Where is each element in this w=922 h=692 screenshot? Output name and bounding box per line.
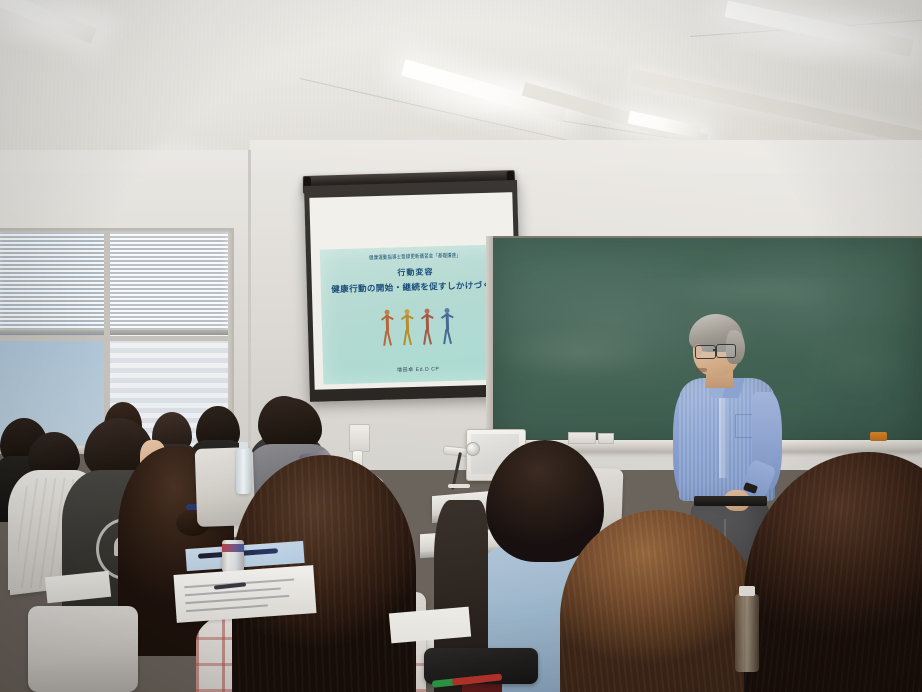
presenter-mouth	[696, 368, 707, 372]
wall-corner	[248, 150, 251, 450]
wall-switch-plate[interactable]	[568, 432, 596, 444]
slide-subtitle: 健康運動指導士登録更新講習会「基礎講座」	[320, 251, 510, 264]
can-label-band	[222, 544, 244, 552]
chalkboard-frame	[486, 236, 493, 452]
classroom-photo-scene: 健康運動指導士登録更新講習会「基礎講座」 行動変容 健康行動の開始・継続を促すし…	[0, 0, 922, 692]
wall-mount-plate	[349, 424, 370, 452]
eyeglasses-lens-left	[695, 345, 716, 359]
presenter-belt	[694, 496, 767, 506]
canned-drink[interactable]	[222, 540, 244, 572]
eyeglasses-lens-right	[716, 344, 736, 358]
handout-papers[interactable]	[173, 565, 316, 623]
chalk-eraser[interactable]	[870, 432, 887, 441]
desk-remote[interactable]	[448, 484, 470, 488]
water-bottle[interactable]	[236, 448, 251, 494]
slide-figure	[401, 309, 413, 349]
eyeglasses-bridge	[713, 349, 717, 351]
slide-figure	[421, 308, 433, 348]
bottle-cap	[739, 586, 755, 596]
chair-back-left-foreground[interactable]	[28, 606, 138, 692]
slide-illustration-figures	[321, 298, 512, 351]
bottle-cap	[239, 442, 248, 449]
slide-figure	[441, 308, 453, 348]
slide-title-line2: 健康行動の開始・継続を促すしかけづくり	[321, 278, 511, 295]
slide-presenter-credit: 増田卓 Ed.D CP	[323, 363, 513, 375]
monitor-arm-joint[interactable]	[466, 442, 480, 456]
projected-slide: 健康運動指導士登録更新講習会「基礎講座」 行動変容 健康行動の開始・継続を促すし…	[320, 244, 514, 384]
slide-figure	[381, 310, 393, 350]
water-bottle-foreground[interactable]	[735, 594, 759, 672]
wall-outlet-plate[interactable]	[598, 433, 614, 444]
window-right	[0, 224, 114, 342]
